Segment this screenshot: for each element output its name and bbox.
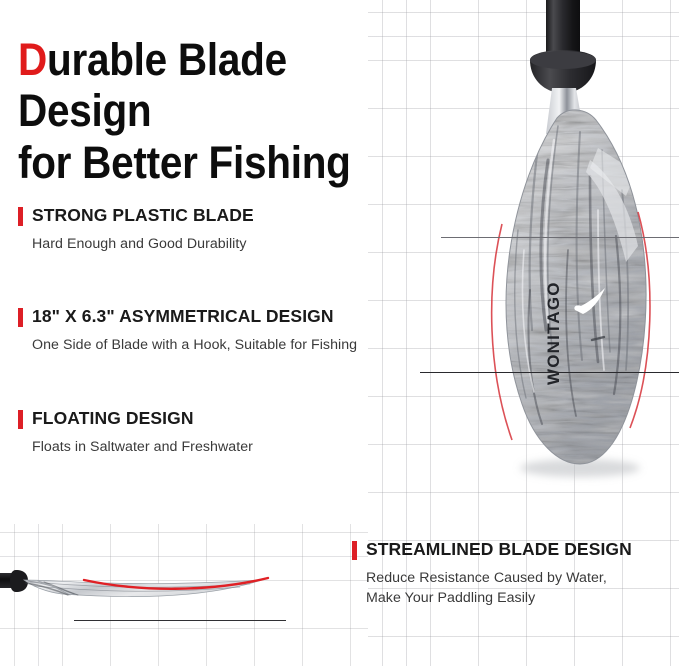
flat-reference-baseline: [74, 620, 286, 621]
feature-heading-row: 18" X 6.3" ASYMMETRICAL DESIGN: [18, 307, 418, 327]
feature-subtitle: Hard Enough and Good Durability: [32, 235, 418, 255]
brand-name-text: WONITAGO: [544, 281, 563, 385]
blade-body: [495, 100, 660, 475]
feature-title: STRONG PLASTIC BLADE: [32, 206, 254, 226]
feature-strong-plastic-blade: STRONG PLASTIC BLADE Hard Enough and Goo…: [18, 206, 418, 255]
blade-width-measure-upper: [441, 237, 679, 238]
feature-streamlined-blade-design: STREAMLINED BLADE DESIGN Reduce Resistan…: [352, 540, 672, 608]
red-bar-marker-icon: [18, 308, 23, 327]
feature-title: STREAMLINED BLADE DESIGN: [366, 540, 632, 560]
product-infographic-page: Durable Blade Design for Better Fishing …: [0, 0, 679, 666]
feature-subtitle: Reduce Resistance Caused by Water, Make …: [366, 569, 672, 608]
blade-edge-illustration: [0, 540, 300, 650]
title-line-1: urable Blade Design: [18, 34, 287, 136]
blade-front-illustration: WONITAGO: [440, 0, 679, 500]
red-bar-marker-icon: [352, 541, 357, 560]
feature-title: 18" X 6.3" ASYMMETRICAL DESIGN: [32, 307, 334, 327]
title-dropcap: D: [18, 34, 47, 85]
page-title: Durable Blade Design for Better Fishing: [18, 34, 378, 188]
title-line-2: for Better Fishing: [18, 137, 351, 188]
feature-heading-row: FLOATING DESIGN: [18, 409, 418, 429]
feature-title: FLOATING DESIGN: [32, 409, 194, 429]
feature-heading-row: STREAMLINED BLADE DESIGN: [352, 540, 672, 560]
feature-asymmetrical-design: 18" X 6.3" ASYMMETRICAL DESIGN One Side …: [18, 307, 418, 356]
ferrule-ring: [530, 51, 596, 69]
feature-heading-row: STRONG PLASTIC BLADE: [18, 206, 418, 226]
product-image-blade-edge-profile: [0, 540, 300, 650]
product-image-blade-front: WONITAGO: [440, 0, 679, 500]
feature-subtitle: One Side of Blade with a Hook, Suitable …: [32, 336, 418, 356]
red-bar-marker-icon: [18, 207, 23, 226]
blade-width-measure-lower: [420, 372, 679, 373]
red-bar-marker-icon: [18, 410, 23, 429]
feature-floating-design: FLOATING DESIGN Floats in Saltwater and …: [18, 409, 418, 458]
feature-subtitle: Floats in Saltwater and Freshwater: [32, 438, 418, 458]
